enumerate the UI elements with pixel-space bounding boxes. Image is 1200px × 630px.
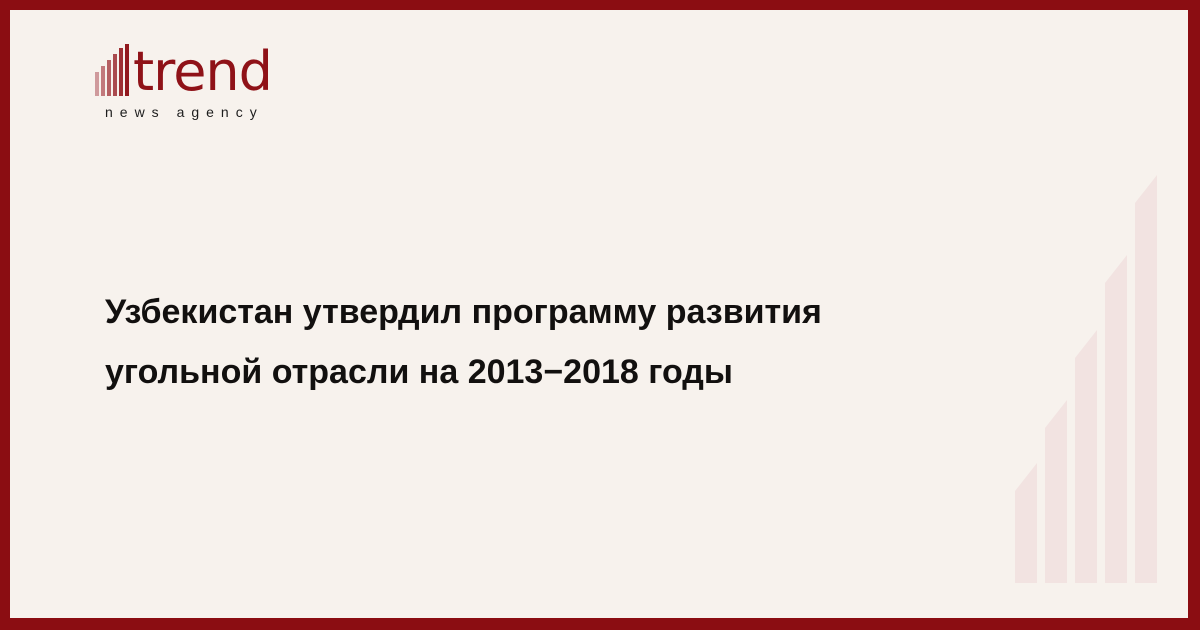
logo-bar (119, 48, 123, 96)
headline-line-1: Узбекистан утвердил программу развития (105, 282, 965, 342)
watermark-bar (1015, 491, 1037, 583)
headline: Узбекистан утвердил программу развития у… (105, 282, 965, 402)
headline-line-2: угольной отрасли на 2013−2018 годы (105, 342, 965, 402)
watermark-bar (1045, 428, 1067, 583)
logo-bar (101, 66, 105, 96)
ascending-bars-watermark-icon (1010, 10, 1180, 618)
logo-tagline: news agency (105, 104, 415, 120)
logo-bar (95, 72, 99, 96)
logo-wordmark: trend (133, 46, 272, 98)
logo-bar (125, 44, 129, 96)
logo-mark-row: trend (95, 40, 415, 98)
ascending-bars-icon (95, 44, 131, 96)
watermark-bar (1075, 358, 1097, 583)
card-canvas: trend news agency Узбекистан утвердил пр… (10, 10, 1188, 618)
logo-bar (107, 60, 111, 96)
logo-bar (113, 54, 117, 96)
watermark-bar (1135, 203, 1157, 583)
watermark-bar (1105, 283, 1127, 583)
share-card: trend news agency Узбекистан утвердил пр… (0, 0, 1200, 630)
trend-logo[interactable]: trend news agency (95, 40, 415, 120)
